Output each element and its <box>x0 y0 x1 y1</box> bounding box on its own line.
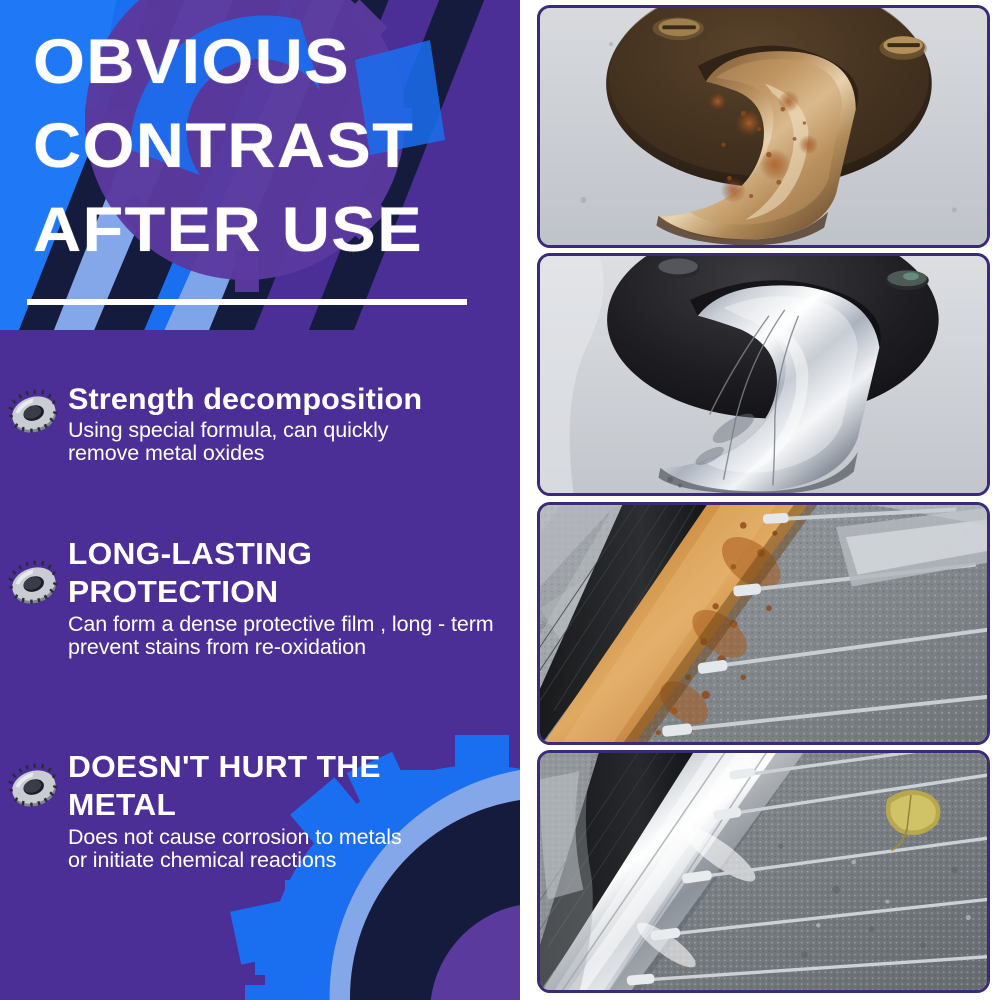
feature-desc-line-2: remove metal oxides <box>68 442 508 465</box>
feature-desc-line-1: Does not cause corrosion to metals <box>68 826 508 849</box>
feature-text-block: Strength decomposition Using special for… <box>68 382 520 465</box>
photo-polished-chrome-pipe-elbow-after <box>537 253 990 496</box>
feature-description: Using special formula, can quickly remov… <box>68 419 508 465</box>
gear-icon <box>8 388 60 440</box>
feature-text-block: LONG-LASTING PROTECTION Can form a dense… <box>68 535 520 659</box>
headline-line-2: CONTRAST <box>33 104 520 188</box>
feature-desc-line-1: Can form a dense protective film , long … <box>68 613 508 636</box>
feature-title: Strength decomposition <box>68 382 517 417</box>
photo-rusty-bicycle-wheel-rim-before <box>537 502 990 745</box>
feature-desc-line-1: Using special formula, can quickly <box>68 419 508 442</box>
gear-icon <box>8 559 60 611</box>
headline-line-1: OBVIOUS <box>33 20 520 104</box>
photo-rusty-brass-pipe-elbow-before <box>537 5 990 248</box>
feature-item-long-lasting-protection: LONG-LASTING PROTECTION Can form a dense… <box>0 535 520 659</box>
feature-description: Does not cause corrosion to metals or in… <box>68 826 508 872</box>
feature-desc-line-2: prevent stains from re-oxidation <box>68 636 508 659</box>
page-title: OBVIOUS CONTRAST AFTER USE <box>33 20 503 272</box>
feature-title-line-1: DOESN'T HURT THE <box>68 748 517 786</box>
headline-divider <box>27 299 467 305</box>
feature-item-strength-decomposition: Strength decomposition Using special for… <box>0 382 520 465</box>
photo-clean-bicycle-wheel-rim-after <box>537 750 990 993</box>
feature-item-doesnt-hurt-the-metal: DOESN'T HURT THE METAL Does not cause co… <box>0 748 520 872</box>
photo-comparison-column <box>520 0 1000 1000</box>
headline-line-3: AFTER USE <box>33 188 520 272</box>
feature-desc-line-2: or initiate chemical reactions <box>68 849 508 872</box>
feature-text-block: DOESN'T HURT THE METAL Does not cause co… <box>68 748 520 872</box>
feature-title-line-2: PROTECTION <box>68 573 517 611</box>
left-info-panel: OBVIOUS CONTRAST AFTER USE <box>0 0 520 1000</box>
gear-icon <box>8 762 60 814</box>
feature-title-line-1: LONG-LASTING <box>68 535 517 573</box>
feature-description: Can form a dense protective film , long … <box>68 613 508 659</box>
poster-root: OBVIOUS CONTRAST AFTER USE <box>0 0 1000 1000</box>
feature-title-line-2: METAL <box>68 786 517 824</box>
